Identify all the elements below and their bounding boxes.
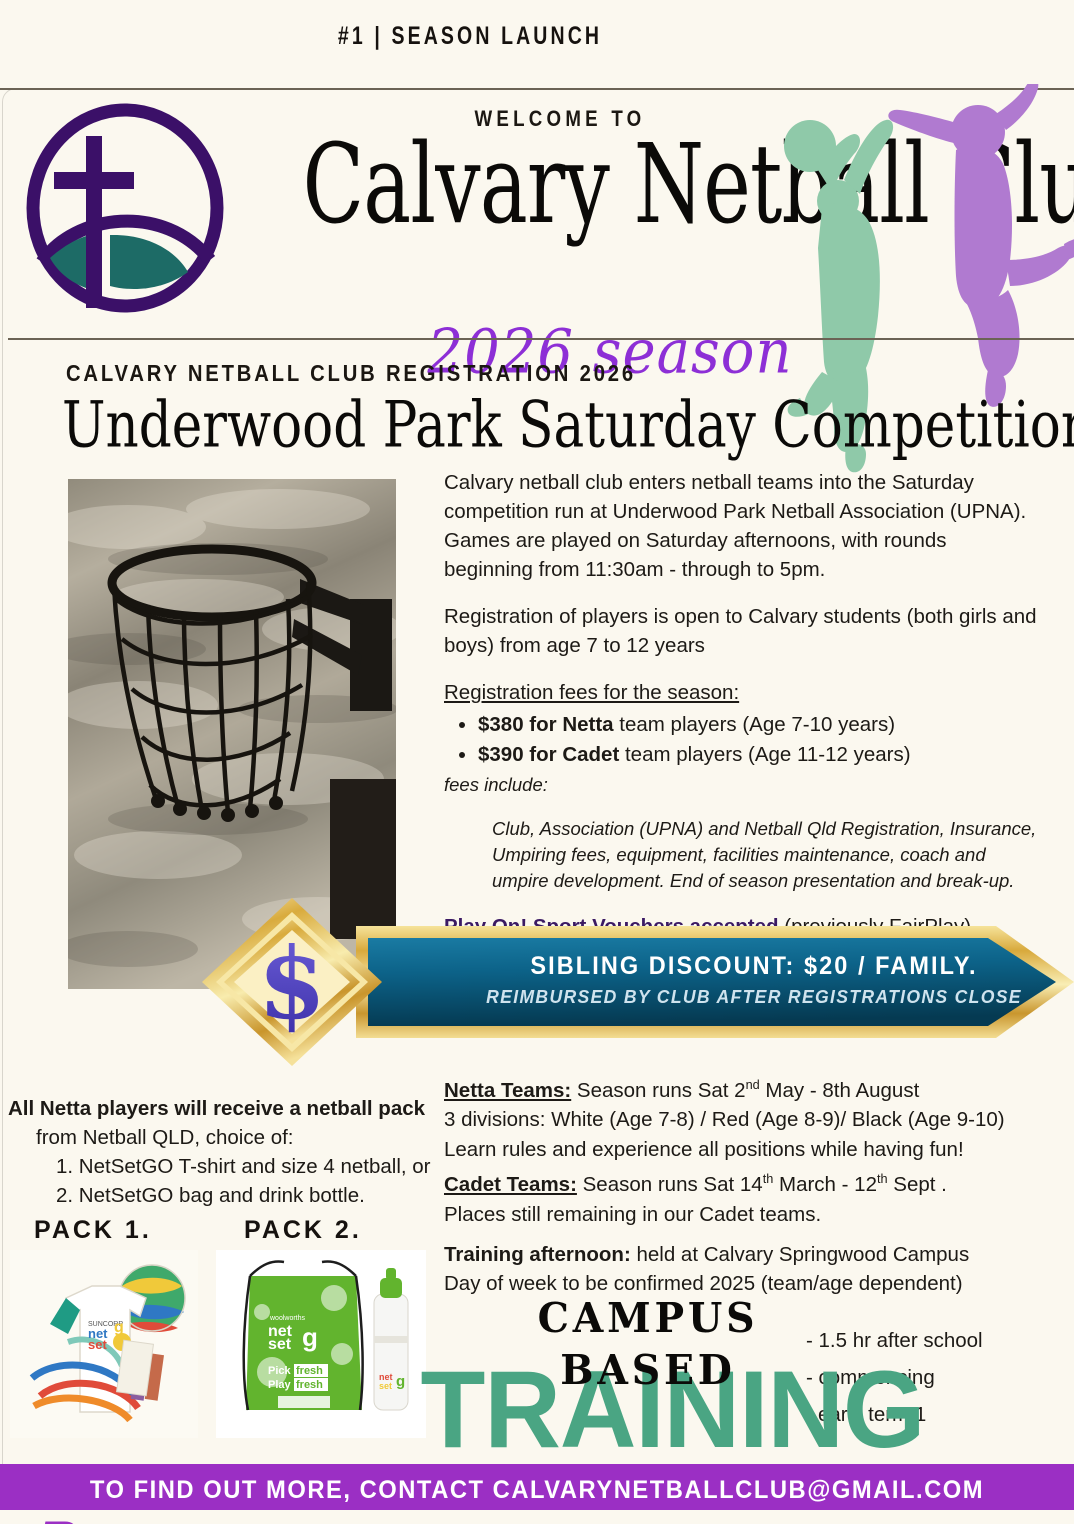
netta-season-pre: Season runs Sat 2 — [571, 1079, 745, 1102]
play-fresh-text: Play — [268, 1379, 292, 1391]
dollar-symbol: $ — [258, 927, 326, 1042]
fees-list: $380 for Netta team players (Age 7-10 ye… — [444, 710, 1040, 770]
fee-item-cadet: $390 for Cadet team players (Age 11-12 y… — [478, 740, 1040, 770]
cadet-teams-line: Cadet Teams: Season runs Sat 14th March … — [444, 1164, 1054, 1199]
hero-section: WELCOME TO Calvary Netball Club 2026 sea… — [0, 90, 1074, 338]
pack-option-1: 1. NetSetGO T-shirt and size 4 netball, … — [8, 1152, 432, 1181]
cadet-teams-label: Cadet Teams: — [444, 1173, 577, 1196]
netsetgo-set-word: set — [88, 1337, 107, 1352]
netsetgo-bag-and-bottle-photo: woolworths net set g Pick fresh Play fre… — [216, 1250, 426, 1438]
fresh-word-1: fresh — [296, 1365, 323, 1377]
netta-season-ordinal: nd — [746, 1077, 760, 1092]
pack-2-label: PACK 2. — [244, 1216, 362, 1245]
fee-item-netta: $380 for Netta team players (Age 7-10 ye… — [478, 710, 1040, 740]
campus-word: CAMPUS — [504, 1292, 792, 1344]
pick-fresh-text: Pick — [268, 1365, 292, 1377]
fresh-word-2: fresh — [296, 1379, 323, 1391]
pack-option-2: 2. NetSetGO bag and drink bottle. — [8, 1181, 432, 1210]
training-afternoon-location: held at Calvary Springwood Campus — [631, 1243, 969, 1266]
calvary-netball-club-logo-icon — [14, 102, 236, 318]
registration-kicker: CALVARY NETBALL CLUB REGISTRATION 2026 — [66, 360, 636, 387]
campus-based-overlay: CAMPUS BASED — [504, 1292, 792, 1396]
fee-cadet-detail: team players (Age 11-12 years) — [619, 743, 910, 766]
teams-info: Netta Teams: Season runs Sat 2nd May - 8… — [444, 1070, 1054, 1229]
cadet-places-line: Places still remaining in our Cadet team… — [444, 1200, 1054, 1230]
woolworths-tagline: woolworths — [269, 1315, 306, 1322]
netta-season-post: May - 8th August — [760, 1079, 920, 1102]
netta-divisions: 3 divisions: White (Age 7-8) / Red (Age … — [444, 1105, 1054, 1135]
intro-paragraph-2: Registration of players is open to Calva… — [444, 602, 1040, 660]
divider-hero-bottom — [8, 338, 1074, 340]
cadet-season-mid: March - 12 — [773, 1173, 877, 1196]
bag-g-word: g — [302, 1322, 318, 1352]
page-title: Underwood Park Saturday Competition — [62, 388, 1074, 462]
issue-label: #1 | SEASON LAUNCH — [103, 22, 836, 51]
based-word: BASED — [504, 1344, 792, 1396]
banner-arrow-shape — [356, 912, 1074, 1052]
cadet-season-post: Sept . — [888, 1173, 947, 1196]
contact-footer-text[interactable]: TO FIND OUT MORE, CONTACT CALVARYNETBALL… — [27, 1476, 1047, 1505]
bag-set-word: set — [268, 1336, 292, 1353]
training-afternoon-line: Training afternoon: held at Calvary Spri… — [444, 1240, 1054, 1269]
fees-heading: Registration fees for the season: — [444, 678, 1040, 708]
netta-teams-label: Netta Teams: — [444, 1079, 571, 1102]
pack-source: from Netball QLD, choice of: — [8, 1123, 432, 1152]
training-afternoon-label: Training afternoon: — [444, 1243, 631, 1266]
fee-netta-amount: $380 for Netta — [478, 713, 614, 736]
sibling-discount-banner: SIBLING DISCOUNT: $20 / FAMILY. REIMBURS… — [200, 896, 1074, 1068]
fees-include-body: Club, Association (UPNA) and Netball Qld… — [444, 816, 1040, 894]
netsetgo-tshirt-and-ball-photo: SUNCORP net set g — [10, 1250, 198, 1438]
pack-1-label: PACK 1. — [34, 1216, 152, 1245]
body-copy: Calvary netball club enters netball team… — [444, 468, 1040, 959]
netta-learn-line: Learn rules and experience all positions… — [444, 1135, 1054, 1165]
bottle-set-word: set — [379, 1381, 392, 1391]
bottle-g-word: g — [396, 1373, 405, 1390]
fee-cadet-amount: $390 for Cadet — [478, 743, 619, 766]
training-info: Training afternoon: held at Calvary Spri… — [444, 1240, 1054, 1298]
next-section-peek-text: Reg — [40, 1512, 140, 1524]
cadet-ordinal-2: th — [877, 1171, 888, 1186]
newsletter-page: #1 | SEASON LAUNCH WELCOME TO Calvary Ne… — [0, 0, 1074, 1524]
dollar-badge-icon: $ — [200, 896, 384, 1068]
netta-teams-line: Netta Teams: Season runs Sat 2nd May - 8… — [444, 1070, 1054, 1105]
netball-pack-info: All Netta players will receive a netball… — [8, 1094, 432, 1210]
fee-netta-detail: team players (Age 7-10 years) — [614, 713, 895, 736]
cadet-ordinal-1: th — [763, 1171, 774, 1186]
top-bar: #1 | SEASON LAUNCH — [0, 0, 1074, 88]
fees-include-label: fees include: — [444, 772, 1040, 798]
netsetgo-g-word: g — [114, 1319, 124, 1336]
pack-heading: All Netta players will receive a netball… — [8, 1094, 432, 1123]
intro-paragraph-1: Calvary netball club enters netball team… — [444, 468, 1040, 584]
cadet-season-pre: Season runs Sat 14 — [577, 1173, 763, 1196]
